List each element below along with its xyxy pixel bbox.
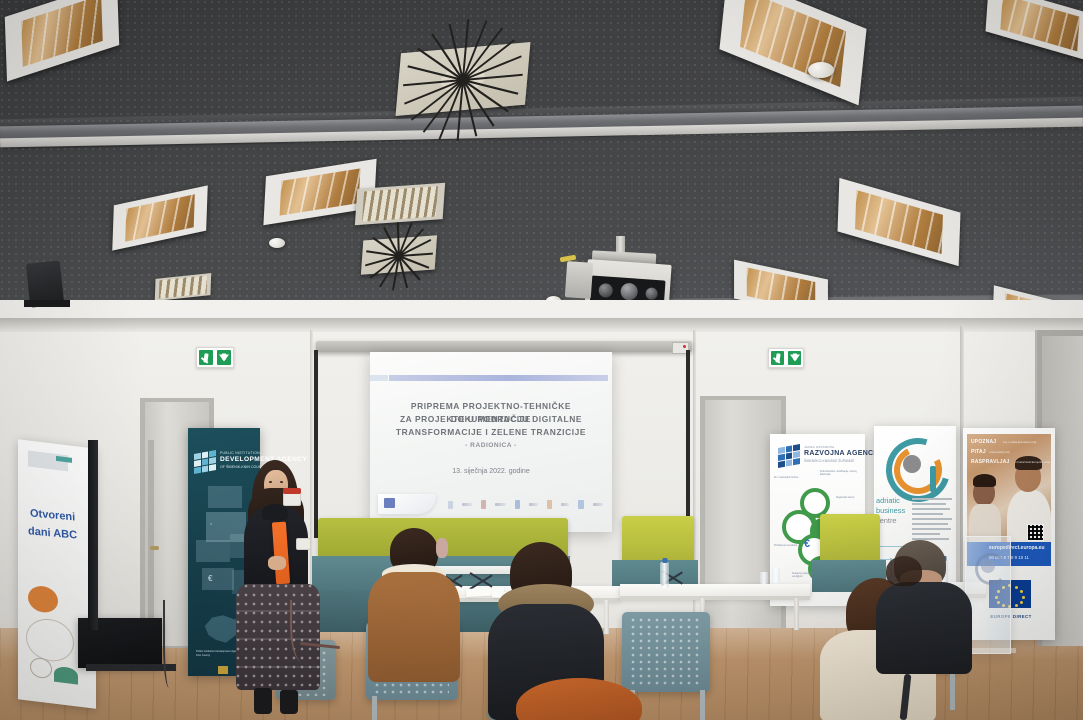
attendee-back-row xyxy=(886,556,930,592)
agency-en-euro-icon: € xyxy=(208,574,212,583)
emergency-exit-sign-left xyxy=(196,347,234,368)
tv-cable xyxy=(163,600,175,688)
attendee-6-hair xyxy=(886,556,922,586)
air-vent-diffuser-1 xyxy=(396,42,531,116)
abc-bullet-list xyxy=(912,498,954,546)
abc-line-1: adriatic xyxy=(876,496,900,505)
slide-logo-mark xyxy=(384,498,395,508)
ceiling-grille-1 xyxy=(355,183,445,225)
air-vent-diffuser-2 xyxy=(361,235,437,274)
footer-logo-3-text xyxy=(529,503,538,506)
abc-open-days-shape-outline xyxy=(26,616,74,664)
attendee-5-jacket xyxy=(876,582,972,674)
abc-open-days-line-1: Otvoreni xyxy=(30,507,76,523)
footer-logo-5 xyxy=(578,500,584,509)
water-bottle-2[interactable] xyxy=(660,562,669,588)
europe-direct-sub-1: sve o našoj Europskoj uniji xyxy=(1003,440,1036,444)
attendee-red-hair xyxy=(516,678,642,720)
bench-green-mid xyxy=(622,516,694,562)
chair-leg-right-2 xyxy=(950,668,955,710)
footer-logo-3 xyxy=(515,500,520,509)
europe-direct-head-3: RASPRAVLJAJ xyxy=(971,459,1010,465)
agency-logo-en xyxy=(194,450,216,474)
slide-accent-bar xyxy=(389,375,608,381)
europe-direct-head-2: PITAJ xyxy=(971,449,986,455)
attendee-tan-coat xyxy=(360,528,470,708)
agency-en-node-3 xyxy=(196,540,230,562)
screen-edge-right xyxy=(686,350,690,538)
agency-en-node-5 xyxy=(202,568,234,590)
projector-cable-box xyxy=(565,261,593,299)
banner-abc-open-days: Otvoreni dani ABC xyxy=(18,439,96,709)
presenter-boot-right xyxy=(280,690,298,714)
europe-direct-head-1: UPOZNAJ xyxy=(971,439,996,445)
drinking-glass-2[interactable] xyxy=(760,572,768,584)
slide-title-line-3: TRANSFORMACIJE I ZELENE TRANZICIJE xyxy=(378,426,604,439)
agency-en-chart-icon: ▱ xyxy=(210,522,212,526)
projection-screen-case xyxy=(316,341,692,352)
agency-hr-label-3: Regionalni razvoj xyxy=(836,496,862,499)
footer-logo-1 xyxy=(448,501,453,509)
emergency-exit-sign-right xyxy=(768,348,804,368)
europe-direct-sub-2: o Europskoj uniji xyxy=(989,450,1010,454)
agency-hr-label-1: EU i nacionalni fondovi xyxy=(774,476,800,479)
presenter xyxy=(232,460,328,710)
attendee-1-coat xyxy=(368,572,460,682)
abc-open-days-line-2: dani ABC xyxy=(28,525,77,541)
wall-socket[interactable] xyxy=(283,492,301,506)
agency-hr-label-4: Privlačenje investitora xyxy=(774,544,802,547)
wall-speaker-bracket xyxy=(24,300,70,307)
presenter-hand xyxy=(268,556,286,570)
presenter-eye-left xyxy=(269,481,272,483)
abc-open-days-shape-orange xyxy=(28,584,58,614)
table-back-x-frame-2 xyxy=(662,570,718,586)
presenter-boot-left xyxy=(254,688,272,714)
abc-line-2: business xyxy=(876,506,905,515)
agency-en-eyebrow: PUBLIC INSTITUTION xyxy=(220,451,260,455)
europe-direct-qr-code xyxy=(1027,524,1044,541)
footer-logo-2 xyxy=(481,500,486,509)
chair-leg-mid-2 xyxy=(700,690,705,720)
abc-spiral-logo xyxy=(884,436,942,492)
conference-room-photo: PRIPREMA PROJEKTNO-TEHNIČKE DOKUMENTACIJ… xyxy=(0,0,1083,720)
door-handle-left[interactable] xyxy=(150,546,159,550)
slide-date: 13. siječnja 2022. godine xyxy=(378,468,604,475)
slide-accent-left xyxy=(370,375,388,381)
drinking-glass-3[interactable] xyxy=(772,568,780,583)
agency-en-crest xyxy=(218,666,228,674)
projection-screen: PRIPREMA PROJEKTNO-TEHNIČKE DOKUMENTACIJ… xyxy=(370,352,612,532)
slide-footer-logos xyxy=(448,499,603,510)
corridor-door-edge xyxy=(148,440,154,630)
footer-logo-1-text xyxy=(462,503,472,506)
europe-direct-sub-3: o budućnosti Europske unije xyxy=(1015,460,1050,464)
footer-logo-5-text xyxy=(593,503,603,506)
agency-hr-label-2: Poduzetništvo, istraživanje i razvoj, Ed… xyxy=(820,470,860,477)
footer-logo-4 xyxy=(547,500,552,509)
smoke-detector-2 xyxy=(269,238,285,248)
wall-socket-2[interactable] xyxy=(296,538,311,550)
slide-subtitle: - RADIONICA - xyxy=(378,442,604,449)
agency-hr-eyebrow: JAVNA USTANOVA xyxy=(804,445,834,449)
presenter-eye-right xyxy=(280,481,283,483)
footer-logo-2-text xyxy=(495,503,506,506)
smoke-detector-1 xyxy=(808,62,834,78)
attendee-3-hair xyxy=(516,678,642,720)
slide-title-line-2: ZA PROJEKTE U PODRUČJU DIGITALNE xyxy=(378,413,604,426)
agency-hr-subtitle: ŠIBENSKO-KNINSKE ŽUPANIJE xyxy=(804,459,854,463)
table-leg-4 xyxy=(794,598,799,630)
abc-open-days-shape-green xyxy=(54,666,78,685)
attendee-1-mask-strap xyxy=(436,538,448,558)
wall-cornice xyxy=(0,318,1083,332)
table-front-right-edge xyxy=(620,596,810,600)
bench-green-right xyxy=(820,514,880,562)
agency-logo-hr xyxy=(778,444,800,468)
wall-socket-red xyxy=(283,488,301,494)
tv-stand-base xyxy=(86,664,176,671)
presenter-turtleneck xyxy=(262,504,288,520)
agency-hr-euro-glyph: € xyxy=(804,538,810,550)
footer-logo-4-text xyxy=(561,503,569,506)
tv-stand-pole xyxy=(88,440,98,630)
